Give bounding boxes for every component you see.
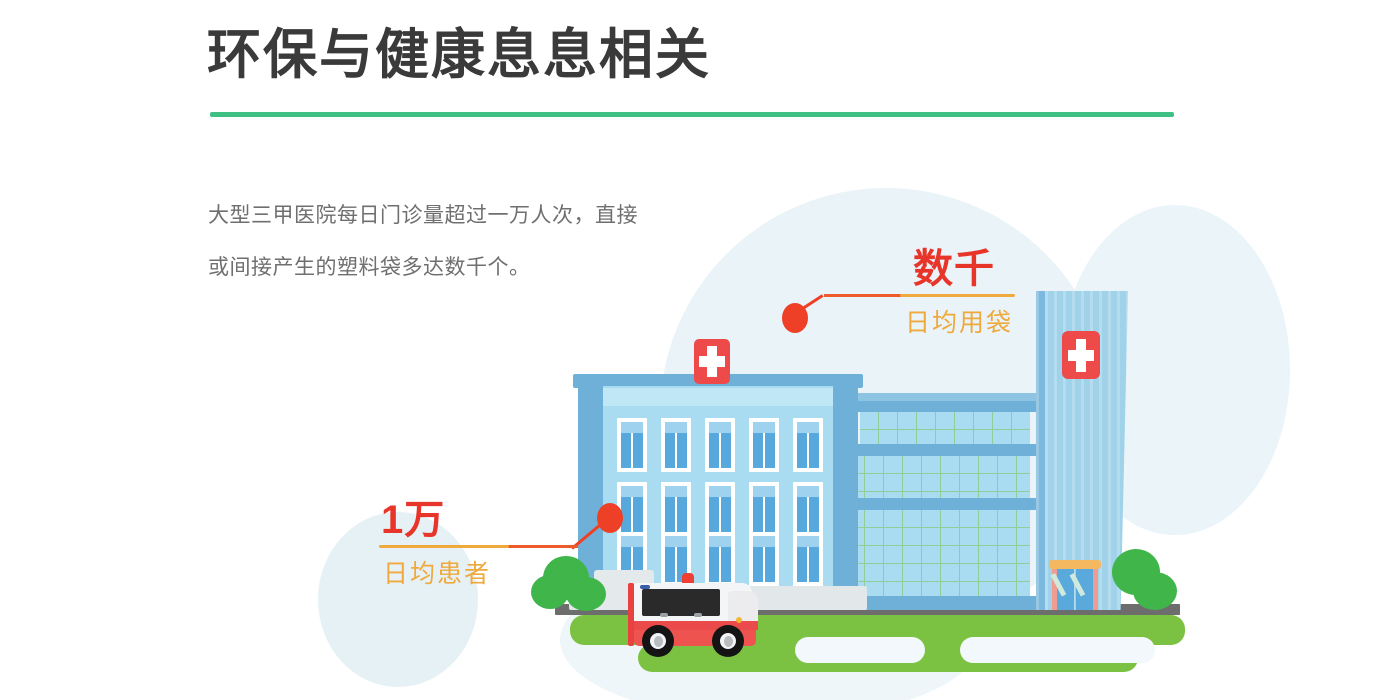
- body-paragraph: 大型三甲医院每日门诊量超过一万人次，直接或间接产生的塑料袋多达数千个。: [208, 190, 638, 294]
- callout-label-patients: 日均患者: [383, 554, 491, 590]
- slide-canvas: 环保与健康息息相关 大型三甲医院每日门诊量超过一万人次，直接或间接产生的塑料袋多…: [0, 0, 1400, 700]
- title-underline: [210, 112, 1174, 117]
- ambulance-wheel-rear: [712, 625, 744, 657]
- ambulance-vehicle: [620, 565, 765, 660]
- green-bush-left-b: [531, 575, 569, 609]
- callout-rule-patients: [379, 545, 509, 548]
- page-title: 环保与健康息息相关: [207, 24, 711, 86]
- ambulance-window: [642, 589, 720, 616]
- callout-marker-dot-patients: [597, 503, 623, 533]
- callout-value-bags: 数千: [913, 236, 995, 294]
- callout-label-bags: 日均用袋: [905, 303, 1013, 339]
- ambulance-wheel-front: [642, 625, 674, 657]
- callout-value-patients: 1万: [381, 487, 445, 545]
- white-path-right: [960, 637, 1155, 663]
- red-cross-sign-tower: [1062, 331, 1100, 379]
- red-cross-sign-roof: [694, 339, 730, 384]
- glass-office-building: [838, 393, 1036, 610]
- white-path-left: [795, 637, 925, 663]
- callout-leader-line-patients: [500, 545, 578, 548]
- green-bush-right-b: [1133, 572, 1177, 610]
- green-bush-left-c: [566, 577, 606, 611]
- tower-entrance-door: [1049, 560, 1101, 610]
- callout-rule-bags: [900, 294, 1015, 297]
